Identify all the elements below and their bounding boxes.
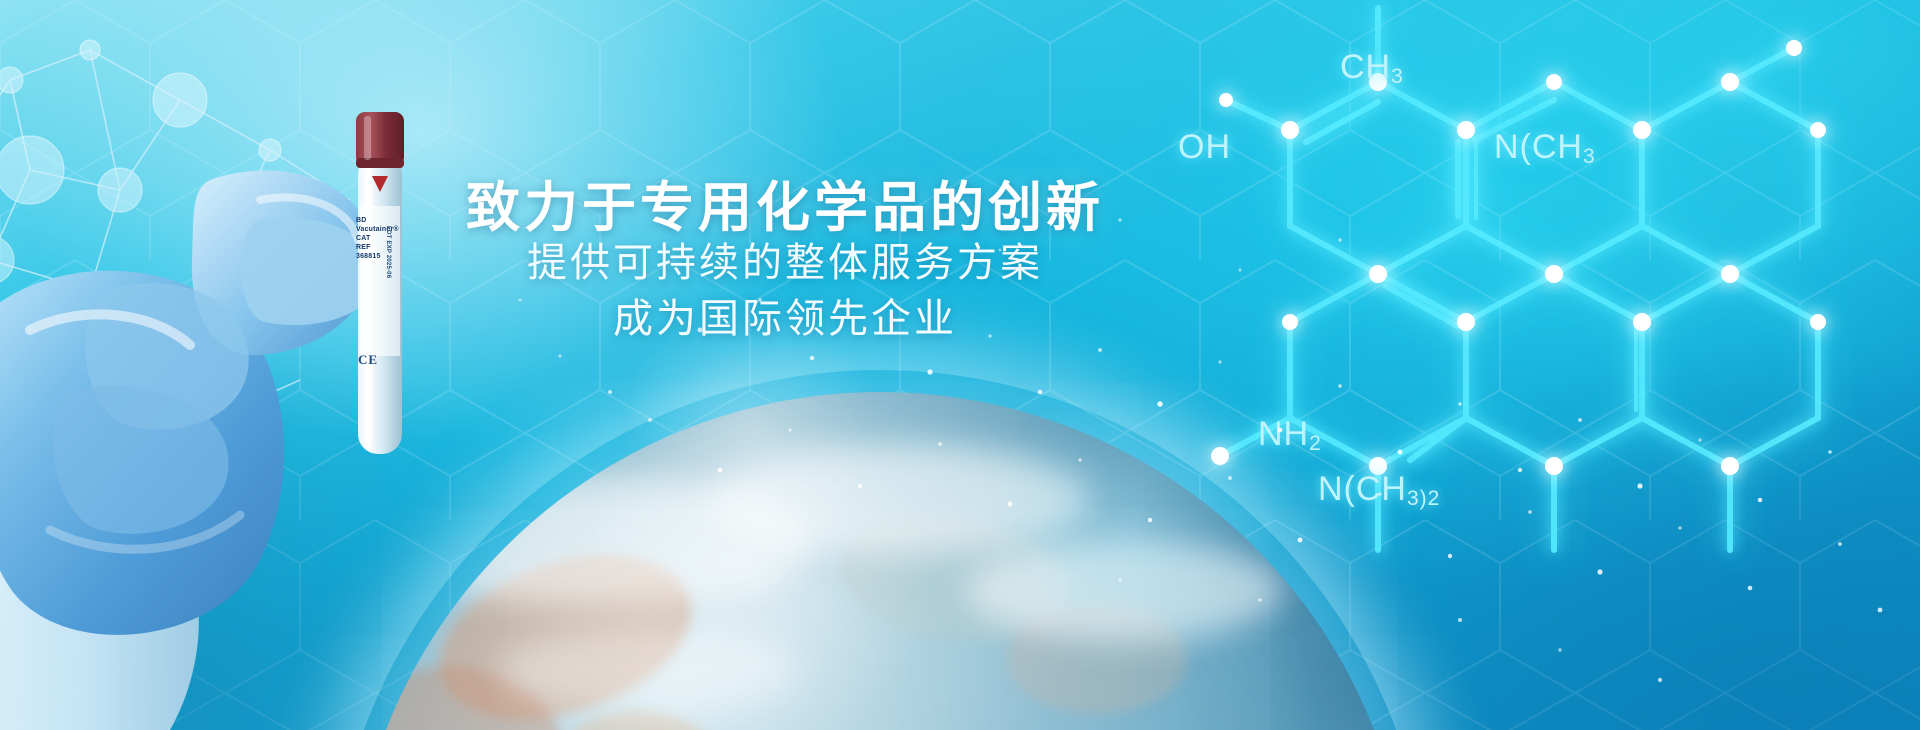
banner-subline-2: 成为国际领先企业 <box>0 286 1570 344</box>
banner-copy: 致力于专用化学品的创新 提供可持续的整体服务方案 成为国际领先企业 <box>0 0 1920 730</box>
hero-banner: BD Vacutainer® CAT REF 368815 LOT EXP 20… <box>0 0 1920 730</box>
banner-subline-1: 提供可持续的整体服务方案 <box>0 230 1570 288</box>
